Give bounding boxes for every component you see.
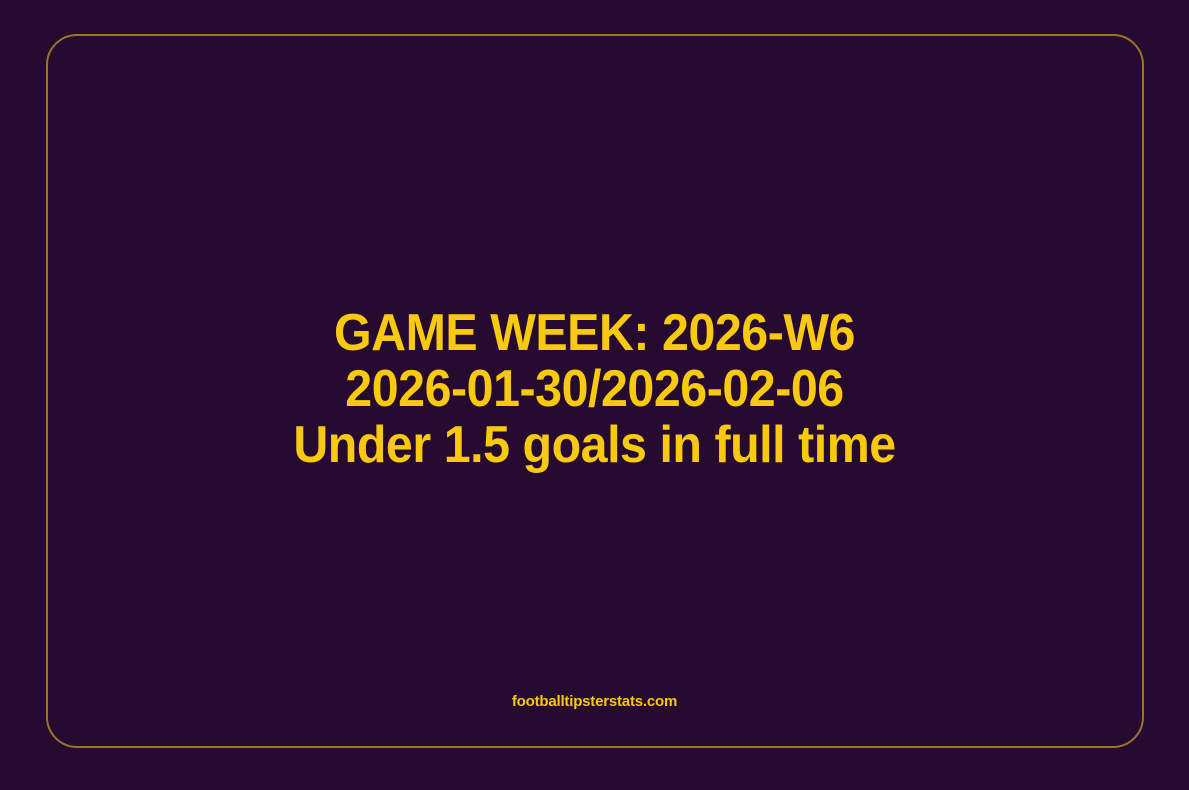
headline-block: GAME WEEK: 2026-W6 2026-01-30/2026-02-06… bbox=[0, 305, 1189, 473]
footer-site-name: footballtipsterstats.com bbox=[0, 693, 1189, 711]
headline-date-range: 2026-01-30/2026-02-06 bbox=[42, 361, 1148, 417]
promo-card-canvas: GAME WEEK: 2026-W6 2026-01-30/2026-02-06… bbox=[0, 0, 1189, 790]
headline-game-week: GAME WEEK: 2026-W6 bbox=[42, 305, 1148, 361]
headline-market: Under 1.5 goals in full time bbox=[42, 417, 1148, 473]
